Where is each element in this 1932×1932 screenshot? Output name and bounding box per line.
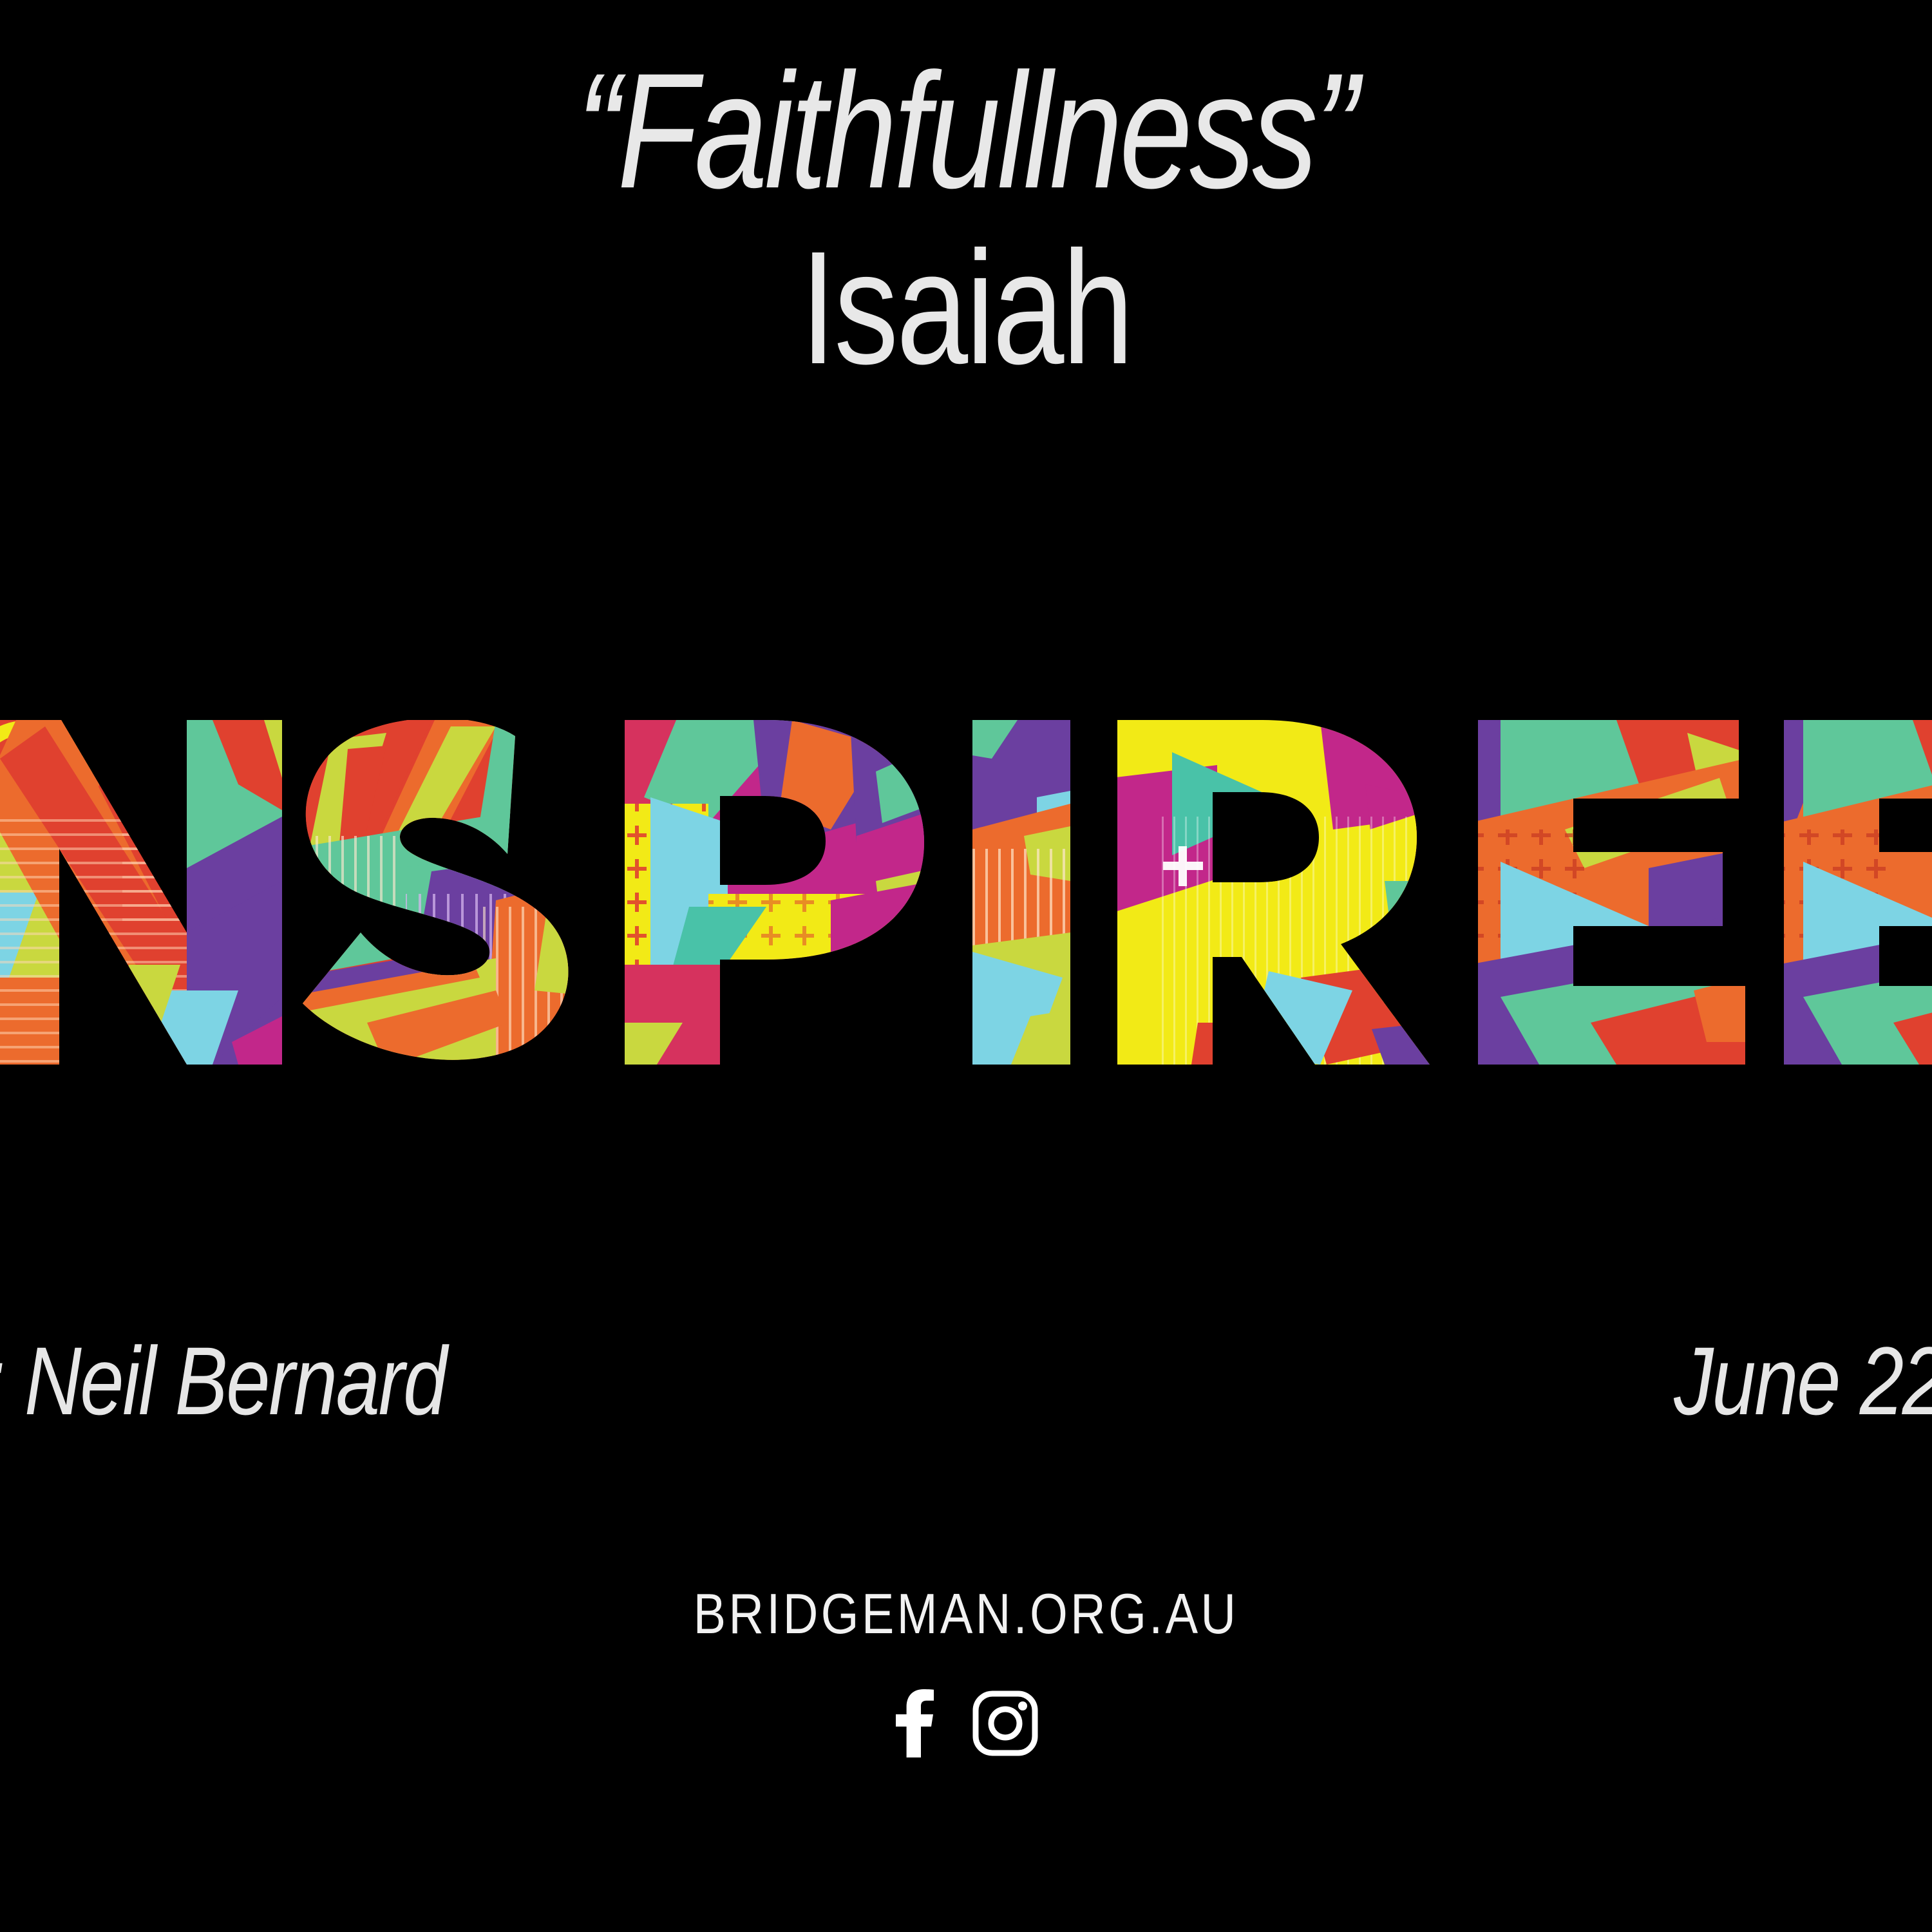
wordmark-letter-r xyxy=(1111,720,1433,1065)
inspire-wordmark xyxy=(0,720,1932,1065)
sermon-title-slide: “Faithfullness” Isaiah xyxy=(0,0,1932,1932)
speaker-label: er: Neil Bernard xyxy=(0,1325,446,1437)
wordmark-letter-e-cropped xyxy=(1777,720,1932,1065)
wordmark-letter-e xyxy=(1468,720,1758,1065)
facebook-icon[interactable] xyxy=(893,1689,935,1757)
sermon-title: “Faithfullness” xyxy=(193,45,1739,218)
wordmark-letter-s xyxy=(290,720,612,1065)
footer: BRIDGEMAN.ORG.AU xyxy=(0,1581,1932,1757)
instagram-icon[interactable] xyxy=(971,1689,1039,1757)
sermon-scripture-book: Isaiah xyxy=(193,218,1739,398)
sermon-date: June 22, 20 xyxy=(1674,1325,1932,1437)
wordmark-letter-n xyxy=(0,720,341,1065)
sermon-meta-row: er: Neil Bernard June 22, 20 xyxy=(0,1325,1932,1448)
inspire-wordmark-graphic xyxy=(0,720,1932,1065)
wordmark-letter-i1 xyxy=(972,720,1070,1065)
sermon-title-block: “Faithfullness” Isaiah xyxy=(0,45,1932,398)
social-links xyxy=(0,1689,1932,1757)
website-url[interactable]: BRIDGEMAN.ORG.AU xyxy=(135,1581,1797,1647)
wordmark-letter-p xyxy=(618,720,934,1065)
